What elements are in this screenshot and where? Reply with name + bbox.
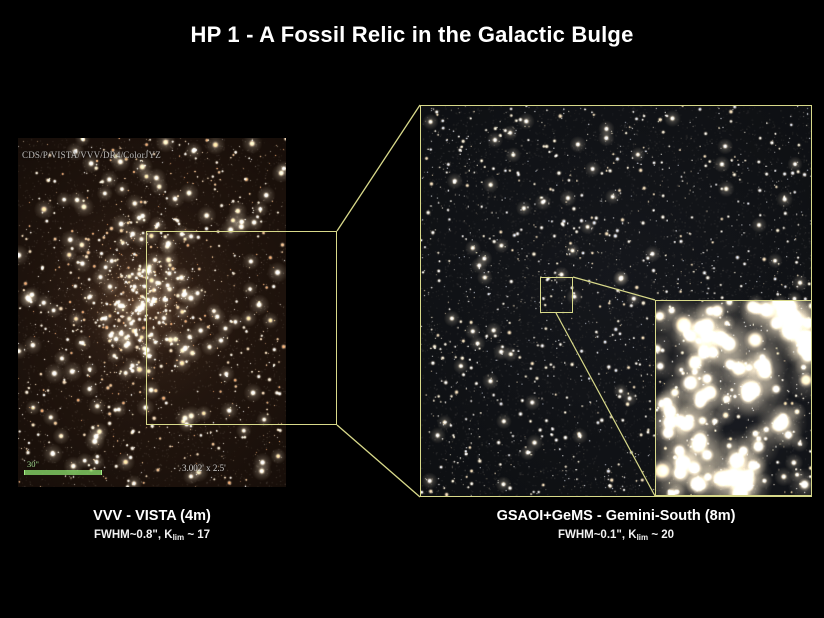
vista-scale-bar-label: 30"	[27, 459, 39, 469]
vista-fwhm-suffix: ~ 17	[184, 529, 210, 541]
connector-line-bottom	[337, 425, 420, 497]
vista-credit-overlay: CDS/P/VISTA/VVV/DR4/ColorJYZ	[22, 150, 161, 160]
vista-caption-detail: FWHM~0.8", Klim ~ 17	[18, 528, 286, 543]
vista-caption: VVV - VISTA (4m) FWHM~0.8", Klim ~ 17	[18, 508, 286, 543]
vista-fov-overlay: 3.002' x 2.5'	[182, 463, 226, 473]
gemini-caption-detail: FWHM~0.1", Klim ~ 20	[420, 528, 812, 543]
gemini-fwhm-prefix: FWHM~0.1", K	[558, 529, 637, 541]
vista-zoom-region-box	[146, 231, 337, 425]
gemini-fwhm-suffix: ~ 20	[648, 529, 674, 541]
gemini-zoom-inset	[655, 300, 812, 496]
figure-root: HP 1 - A Fossil Relic in the Galactic Bu…	[0, 0, 824, 618]
gemini-fwhm-subscript: lim	[637, 533, 649, 542]
gemini-caption-title: GSAOI+GeMS - Gemini-South (8m)	[420, 508, 812, 525]
vista-fwhm-subscript: lim	[173, 533, 185, 542]
vista-fwhm-prefix: FWHM~0.8", K	[94, 529, 173, 541]
vista-caption-title: VVV - VISTA (4m)	[18, 508, 286, 525]
inset-source-box	[540, 277, 573, 313]
gemini-caption: GSAOI+GeMS - Gemini-South (8m) FWHM~0.1"…	[420, 508, 812, 543]
connector-line-top	[337, 105, 420, 231]
inset-starfield	[656, 301, 811, 495]
figure-title: HP 1 - A Fossil Relic in the Galactic Bu…	[0, 22, 824, 48]
vista-scale-bar	[24, 470, 102, 475]
